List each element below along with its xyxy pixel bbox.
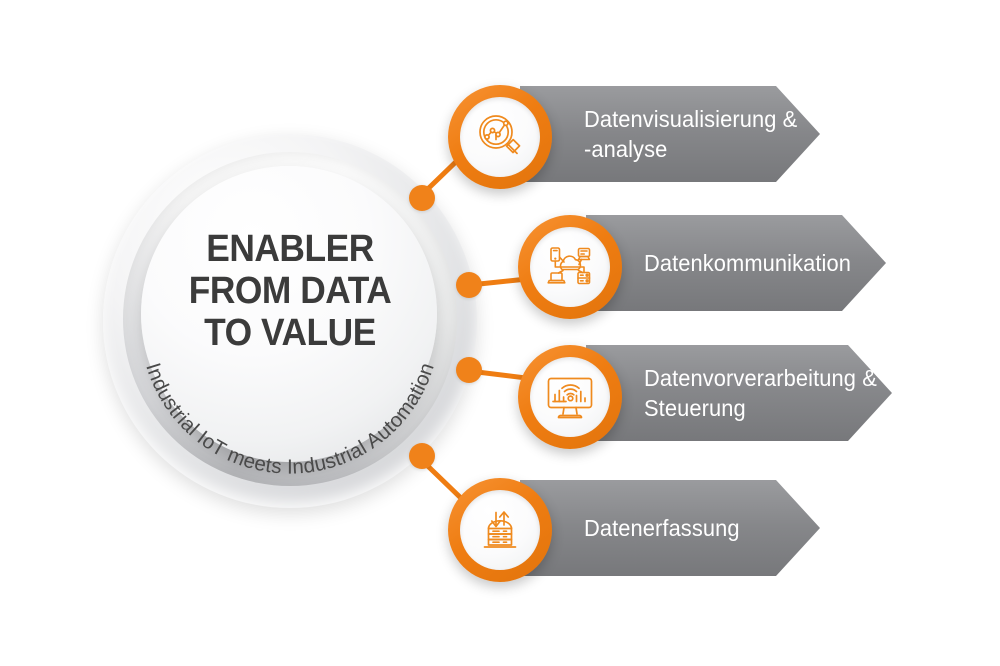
step-banner-3[interactable]: Datenvorverarbeitung & Steuerung: [586, 345, 892, 441]
step-banner-2[interactable]: Datenkommunikation: [586, 215, 886, 311]
step-badge-4[interactable]: [448, 478, 552, 582]
step-badge-inner-4: [460, 490, 540, 570]
svg-text:Industrial IoT meets Industria: Industrial IoT meets Industrial Automati…: [141, 360, 439, 479]
step-label-2: Datenkommunikation: [644, 248, 851, 278]
connector-dot-1: [409, 185, 435, 211]
step-banner-1[interactable]: Datenvisualisierung & -analyse: [520, 86, 820, 182]
hub-arc-text-label: Industrial IoT meets Industrial Automati…: [141, 360, 439, 479]
monitor-wifi-icon: [543, 370, 597, 424]
magnifier-chart-icon: [473, 110, 527, 164]
step-label-3: Datenvorverarbeitung & Steuerung: [644, 363, 877, 423]
data-acquisition-icon: [473, 503, 527, 557]
step-banner-4[interactable]: Datenerfassung: [520, 480, 820, 576]
cloud-network-icon: [543, 240, 597, 294]
connector-dot-4: [409, 443, 435, 469]
step-badge-inner-2: [530, 227, 610, 307]
step-badge-1[interactable]: [448, 85, 552, 189]
step-label-4: Datenerfassung: [584, 513, 740, 543]
step-badge-2[interactable]: [518, 215, 622, 319]
step-badge-inner-1: [460, 97, 540, 177]
connector-dot-2: [456, 272, 482, 298]
step-badge-3[interactable]: [518, 345, 622, 449]
connector-dot-3: [456, 357, 482, 383]
step-badge-inner-3: [530, 357, 610, 437]
infographic-canvas: ENABLER FROM DATA TO VALUE Industrial Io…: [0, 0, 1000, 666]
step-label-1: Datenvisualisierung & -analyse: [584, 104, 797, 164]
